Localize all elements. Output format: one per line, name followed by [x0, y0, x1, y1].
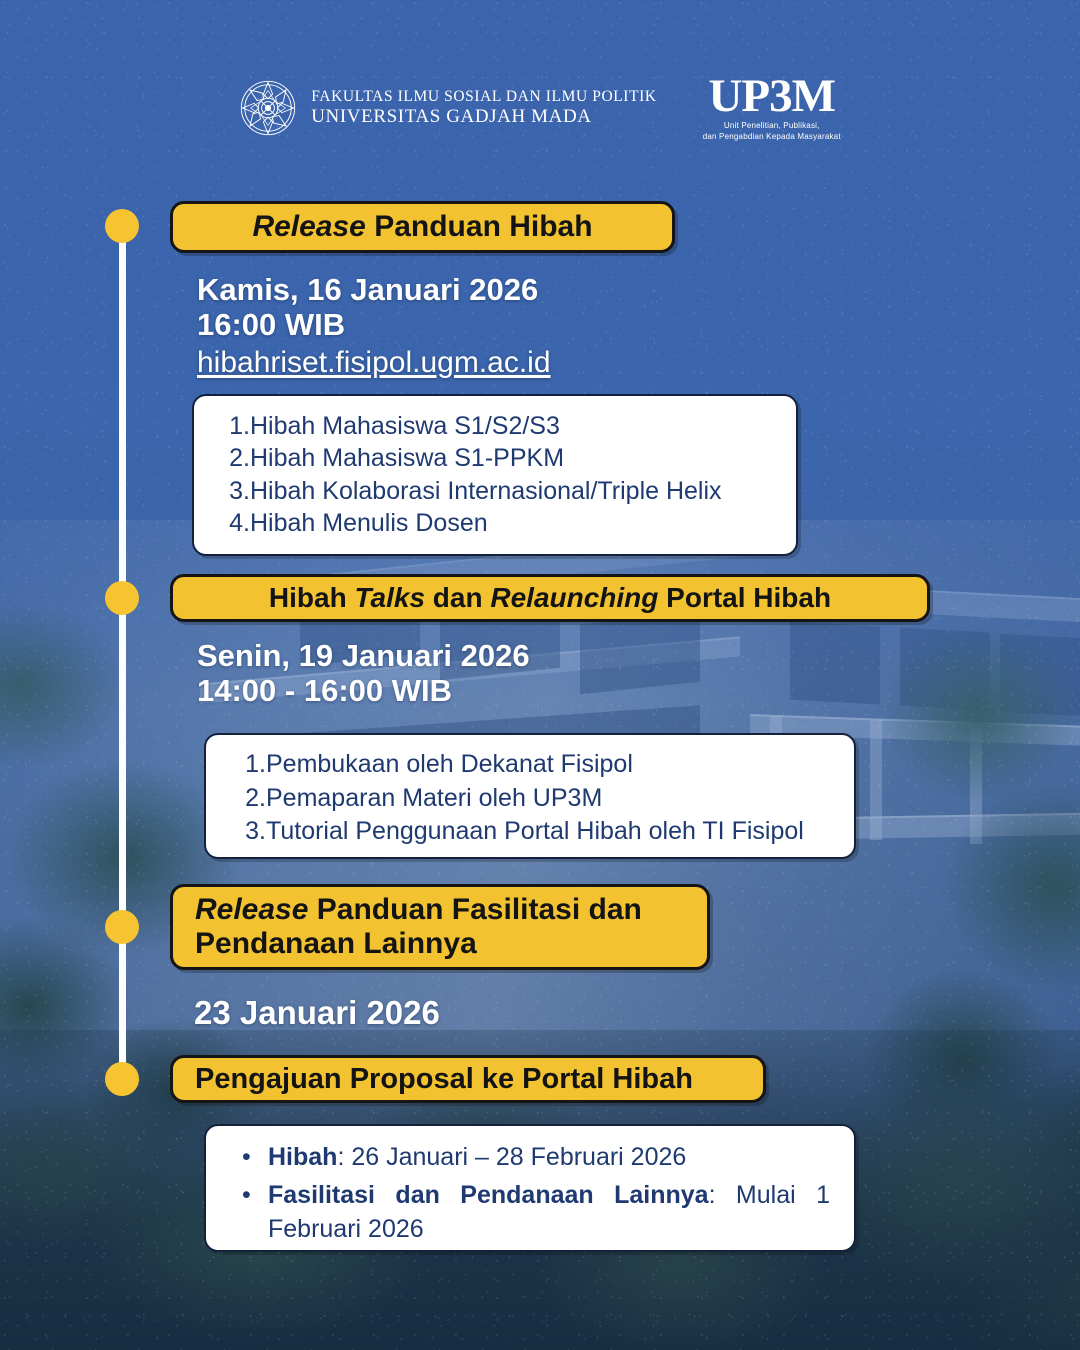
ugm-surya-majapahit-icon	[239, 79, 297, 137]
bullet-icon: •	[242, 1140, 268, 1174]
badge-2-part-1: Hibah	[269, 582, 355, 613]
card-rundown-hibah-talks: 1.Pembukaan oleh Dekanat Fisipol 2.Pemap…	[204, 733, 856, 859]
list-item: • Hibah: 26 Januari – 28 Februari 2026	[242, 1140, 830, 1174]
ordered-list-rundown: 1.Pembukaan oleh Dekanat Fisipol 2.Pemap…	[242, 748, 832, 849]
timeline-dot-2	[105, 581, 139, 615]
badge-2-part-3: dan	[425, 582, 490, 613]
badge-release-panduan-fasilitasi[interactable]: Release Panduan Fasilitasi dan Pendanaan…	[170, 884, 710, 970]
ugm-line-1: FAKULTAS ILMU SOSIAL DAN ILMU POLITIK	[311, 88, 656, 106]
badge-2-italic-relaunching: Relaunching	[490, 582, 658, 613]
list-item: • Fasilitasi dan Pendanaan Lainnya: Mula…	[242, 1178, 830, 1246]
badge-2-part-5: Portal Hibah	[658, 582, 831, 613]
list-item: 4.Hibah Menulis Dosen	[226, 507, 774, 539]
timeline-dot-4	[105, 1062, 139, 1096]
badge-release-panduan-hibah[interactable]: Release Panduan Hibah	[170, 201, 675, 253]
timeline-line	[119, 226, 126, 1076]
list-item: 2.Hibah Mahasiswa S1-PPKM	[226, 442, 774, 474]
list-item: 2.Pemaparan Materi oleh UP3M	[242, 782, 832, 816]
header-logos: FAKULTAS ILMU SOSIAL DAN ILMU POLITIK UN…	[0, 74, 1080, 142]
section-2-when: Senin, 19 Januari 2026 14:00 - 16:00 WIB	[197, 638, 530, 709]
badge-hibah-talks-relaunching[interactable]: Hibah Talks dan Relaunching Portal Hibah	[170, 574, 930, 622]
timeline-dot-3	[105, 910, 139, 944]
list-item-label: Fasilitasi dan Pendanaan Lainnya	[268, 1181, 709, 1209]
list-item-value: : 26 Januari – 28 Februari 2026	[337, 1143, 686, 1171]
list-item: 3.Hibah Kolaborasi Internasional/Triple …	[226, 475, 774, 507]
poster-root: FAKULTAS ILMU SOSIAL DAN ILMU POLITIK UN…	[0, 0, 1080, 1350]
ordered-list-hibah: 1.Hibah Mahasiswa S1/S2/S3 2.Hibah Mahas…	[226, 410, 774, 539]
list-item-label: Hibah	[268, 1143, 337, 1171]
badge-4-text: Pengajuan Proposal ke Portal Hibah	[195, 1063, 741, 1096]
section-2-date: Senin, 19 Januari 2026	[197, 638, 530, 673]
badge-3-italic-part: Release	[195, 893, 308, 926]
section-2-time: 14:00 - 16:00 WIB	[197, 673, 530, 708]
section-1-when: Kamis, 16 Januari 2026 16:00 WIB hibahri…	[197, 272, 551, 380]
up3m-wordmark: UP3M	[703, 74, 841, 119]
ugm-faculty-name: FAKULTAS ILMU SOSIAL DAN ILMU POLITIK UN…	[311, 88, 656, 129]
list-item: 1.Hibah Mahasiswa S1/S2/S3	[226, 410, 774, 442]
badge-pengajuan-proposal[interactable]: Pengajuan Proposal ke Portal Hibah	[170, 1055, 766, 1103]
up3m-subtitle: Unit Penelitian, Publikasi, dan Pengabdi…	[703, 121, 841, 142]
ugm-logo-lockup: FAKULTAS ILMU SOSIAL DAN ILMU POLITIK UN…	[239, 79, 656, 137]
up3m-logo-lockup: UP3M Unit Penelitian, Publikasi, dan Pen…	[703, 74, 841, 142]
list-item: 3.Tutorial Penggunaan Portal Hibah oleh …	[242, 815, 832, 849]
section-1-time: 16:00 WIB	[197, 307, 551, 342]
section-1-date: Kamis, 16 Januari 2026	[197, 272, 551, 307]
bullet-icon: •	[242, 1178, 268, 1246]
ugm-line-2: UNIVERSITAS GADJAH MADA	[311, 106, 656, 128]
up3m-subtitle-line-1: Unit Penelitian, Publikasi,	[703, 121, 841, 131]
section-3-date: 23 Januari 2026	[194, 994, 440, 1032]
badge-2-italic-talks: Talks	[354, 582, 425, 613]
up3m-subtitle-line-2: dan Pengabdian Kepada Masyarakat	[703, 132, 841, 142]
card-jadwal-pengajuan: • Hibah: 26 Januari – 28 Februari 2026 •…	[204, 1124, 856, 1252]
card-jenis-hibah: 1.Hibah Mahasiswa S1/S2/S3 2.Hibah Mahas…	[192, 394, 798, 556]
badge-1-italic-part: Release	[252, 210, 365, 243]
bulleted-list-jadwal: • Hibah: 26 Januari – 28 Februari 2026 •…	[242, 1140, 830, 1246]
list-item: 1.Pembukaan oleh Dekanat Fisipol	[242, 748, 832, 782]
section-3-when: 23 Januari 2026	[194, 994, 440, 1032]
section-1-url-link[interactable]: hibahriset.fisipol.ugm.ac.id	[197, 346, 551, 380]
badge-1-regular-part: Panduan Hibah	[366, 210, 593, 243]
timeline-dot-1	[105, 209, 139, 243]
